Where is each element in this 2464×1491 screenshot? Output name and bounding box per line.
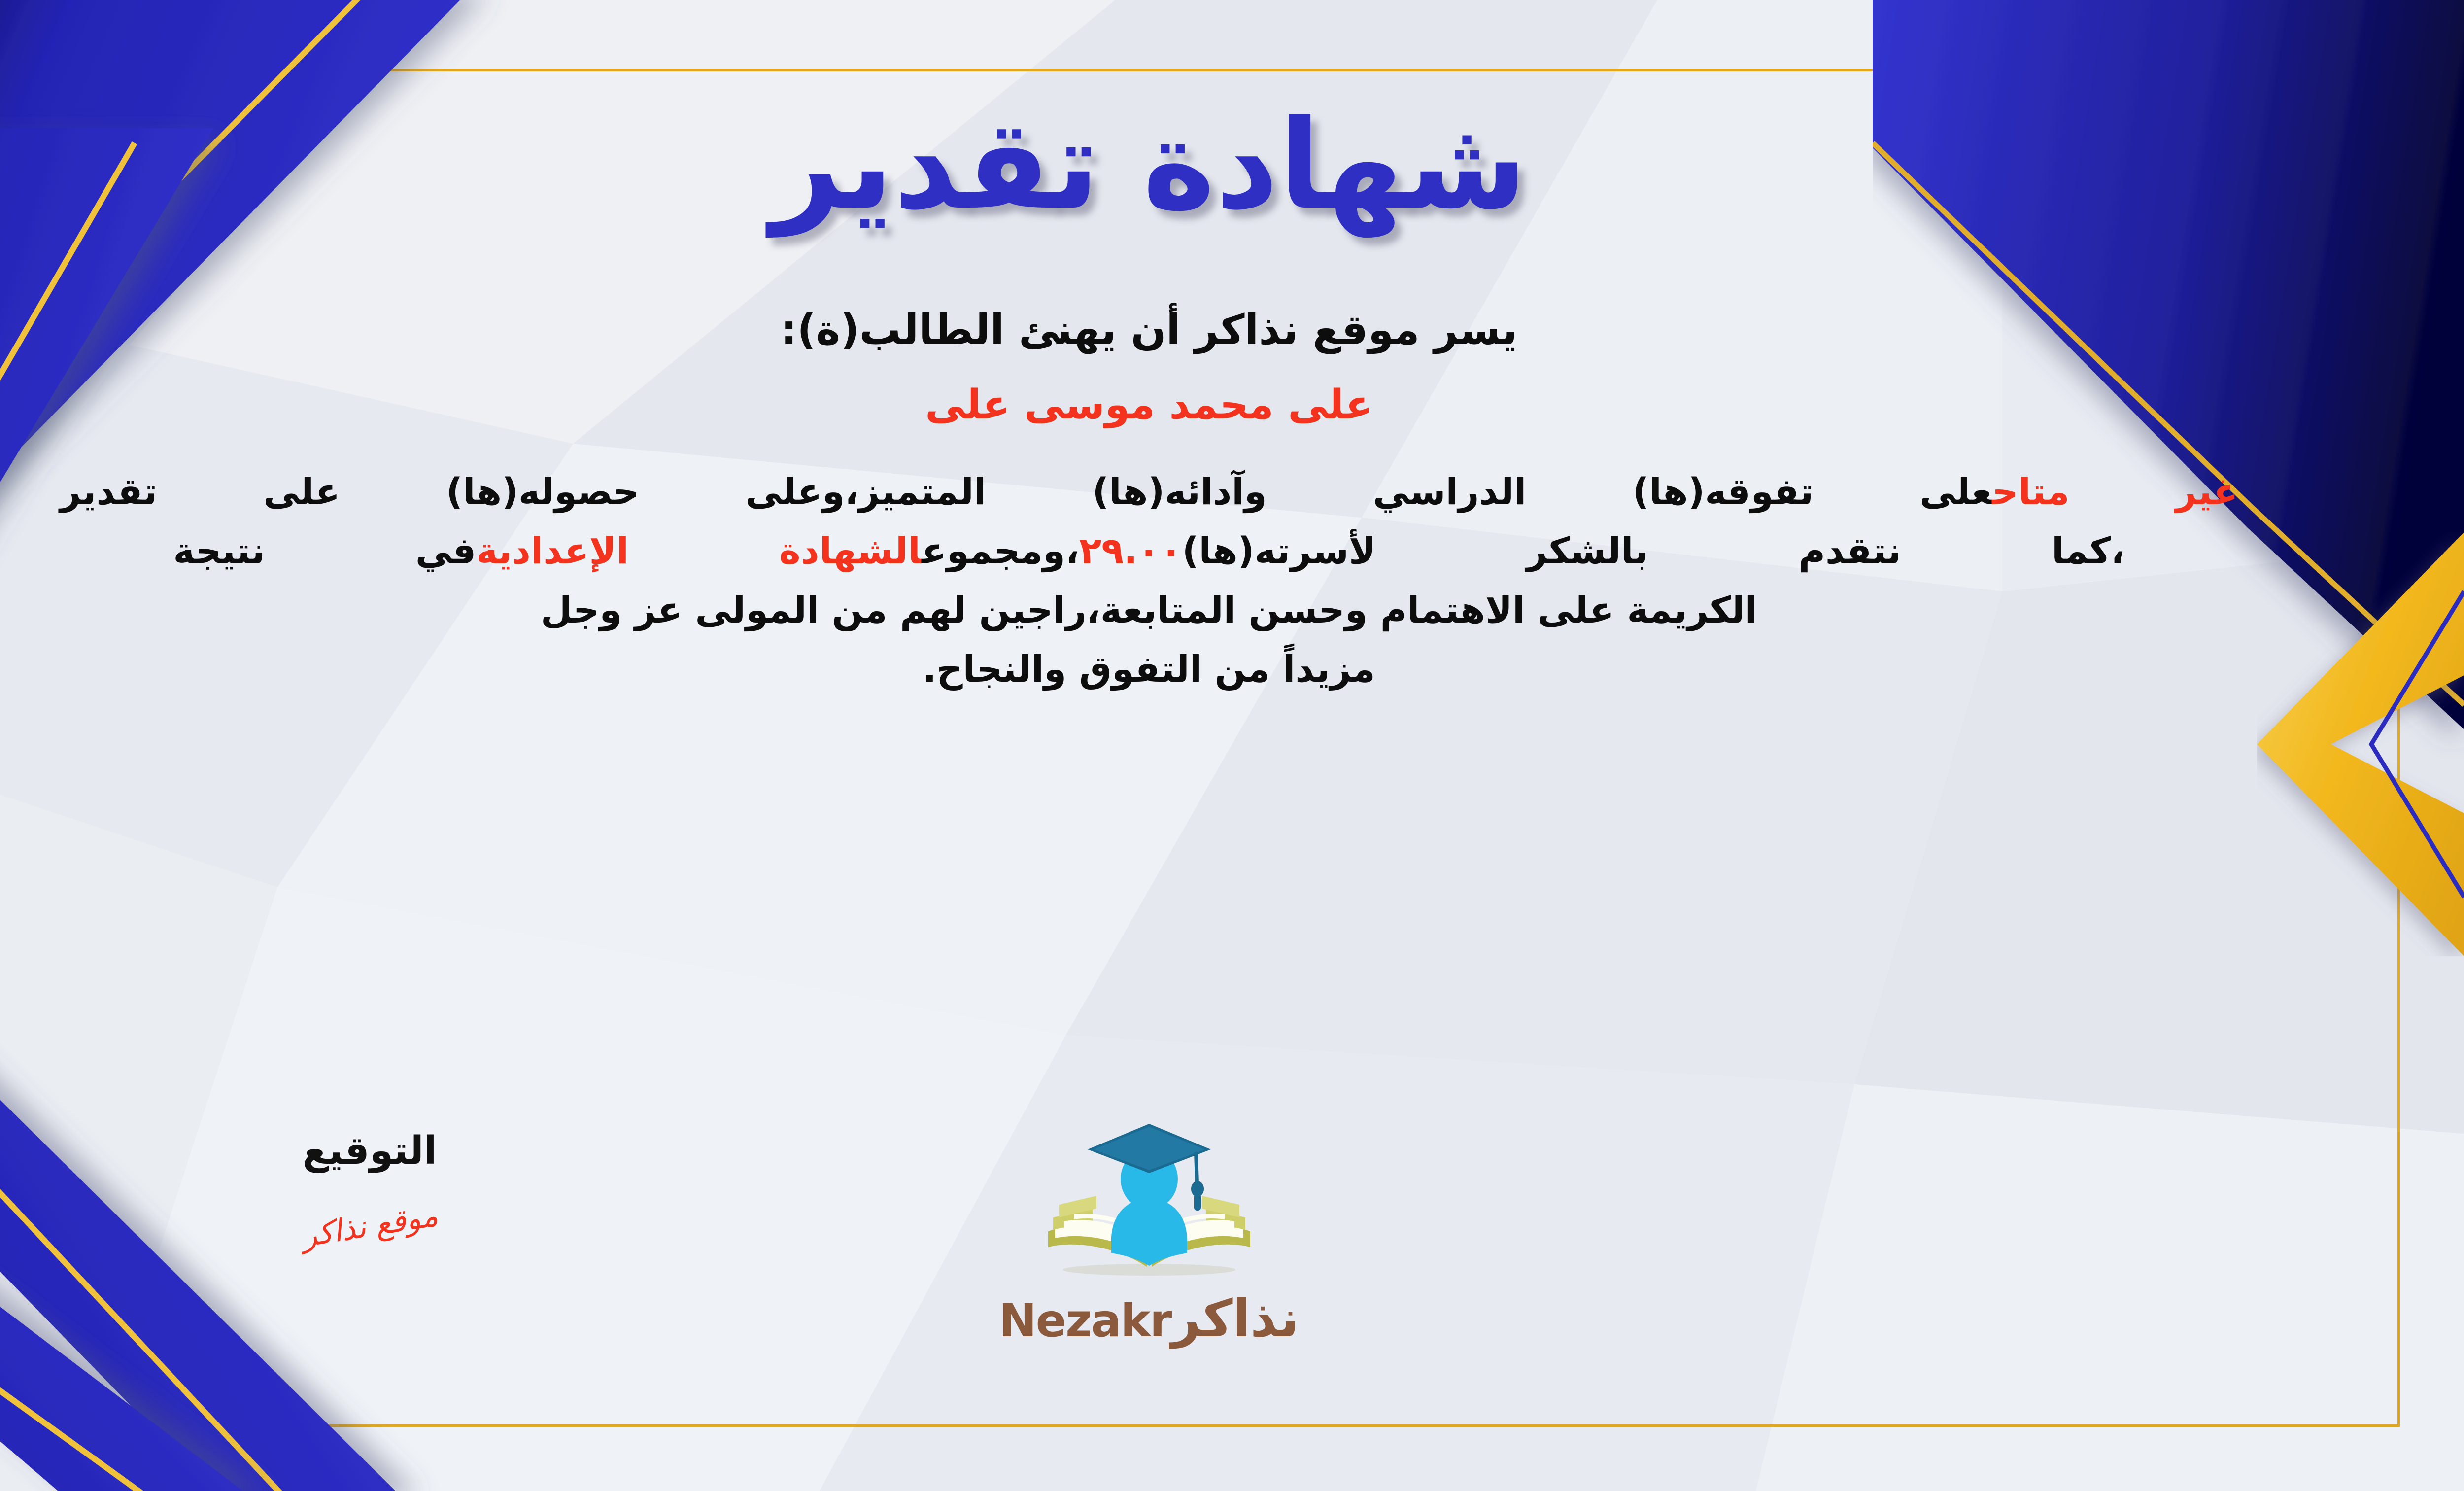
logo-wordmark: Nezakrنذاكر bbox=[927, 1288, 1371, 1349]
site-logo: Nezakrنذاكر bbox=[927, 1124, 1371, 1349]
body-line-2-mid: ،ومجموع bbox=[922, 530, 1079, 572]
intro-line: يسر موقع نذاكر أن يهنئ الطالب(ة): bbox=[781, 306, 1517, 354]
body-line-2-prefix: في نتيجة bbox=[173, 530, 477, 572]
body-line-4: مزيداً من التفوق والنجاح. bbox=[26, 640, 2273, 699]
certificate-title-text: شهادة تقدير bbox=[771, 104, 1527, 227]
logo-name-latin: Nezakr bbox=[999, 1294, 1171, 1347]
body-line-3: الكريمة على الاهتمام وحسن المتابعة،راجين… bbox=[26, 581, 2273, 640]
graduation-cap-book-icon bbox=[1033, 1124, 1265, 1286]
certificate-body: غير متاحعلى تفوقه(ها) الدراسي وآدائه(ها)… bbox=[26, 463, 2273, 699]
signature-mark: موقع نذاكر bbox=[299, 1197, 440, 1254]
signature-block: التوقيع موقع نذاكر bbox=[197, 1129, 542, 1244]
body-line-1: غير متاحعلى تفوقه(ها) الدراسي وآدائه(ها)… bbox=[26, 463, 2273, 522]
exam-name-value: الشهادة الإعدادية bbox=[476, 530, 922, 572]
body-line-2: ،كما نتقدم بالشكر لأسرته(ها)٢٩.٠٠،ومجموع… bbox=[26, 522, 2273, 581]
certificate-footer: التوقيع موقع نذاكر bbox=[0, 1129, 2464, 1434]
certificate-page: شهادة تقدير يسر موقع نذاكر أن يهنئ الطال… bbox=[0, 0, 2464, 1491]
grade-value: غير متاح bbox=[1992, 471, 2238, 513]
total-score-value: ٢٩.٠٠ bbox=[1079, 530, 1182, 572]
certificate-title: شهادة تقدير bbox=[771, 84, 1527, 246]
body-line-1-text: على تفوقه(ها) الدراسي وآدائه(ها) المتميز… bbox=[60, 471, 1992, 513]
body-line-2-suffix: ،كما نتقدم بالشكر لأسرته(ها) bbox=[1182, 530, 2125, 572]
student-name: على محمد موسى على bbox=[925, 381, 1373, 428]
signature-label: التوقيع bbox=[197, 1129, 542, 1173]
logo-name-arabic: نذاكر bbox=[1171, 1288, 1299, 1349]
